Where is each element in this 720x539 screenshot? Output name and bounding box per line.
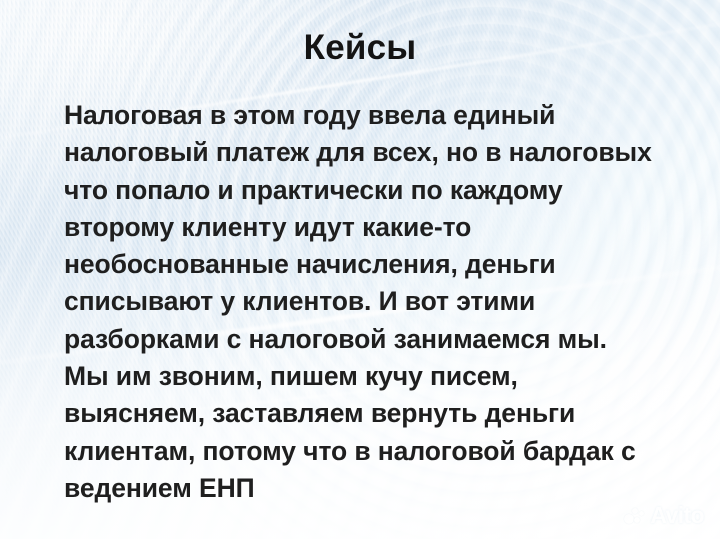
slide-canvas: Кейсы Налоговая в этом году ввела единый… [0,0,720,539]
body-line: ведением ЕНП [64,470,660,507]
body-line: налоговый платеж для всех, но в налоговы… [64,134,660,171]
body-line: списывают у клиентов. И вот этими [64,283,660,320]
body-line: клиентам, потому что в налоговой бардак … [64,433,660,470]
slide-title: Кейсы [0,27,720,69]
avito-watermark-label: Avito [650,504,704,527]
body-line: Налоговая в этом году ввела единый [64,97,660,134]
body-line: необоснованные начисления, деньги [64,246,660,283]
body-line: разборками с налоговой занимаемся мы. [64,321,660,358]
slide-body: Налоговая в этом году ввела единый налог… [64,97,660,507]
body-line: Мы им звоним, пишем кучу писем, [64,358,660,395]
body-line: выясняем, заставляем вернуть деньги [64,395,660,432]
body-line: что попало и практически по каждому [64,172,660,209]
body-line: второму клиенту идут какие-то [64,209,660,246]
avito-dots-icon [624,506,646,526]
avito-watermark: Avito [624,504,704,527]
slide-content: Кейсы Налоговая в этом году ввела единый… [0,0,720,539]
